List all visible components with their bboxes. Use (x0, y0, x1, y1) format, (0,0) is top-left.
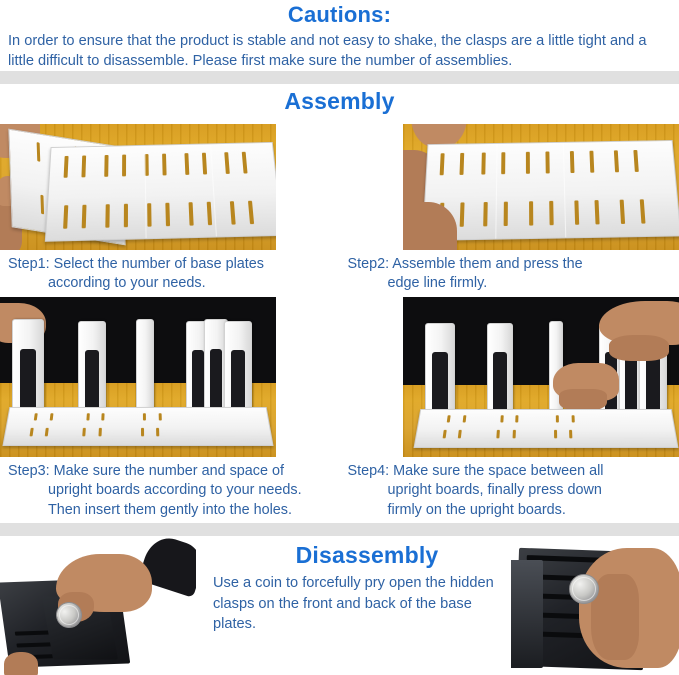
step2-caption-line1: Step2: Assemble them and press the (344, 255, 676, 274)
assembly-step-3: Step3: Make sure the number and space of… (0, 297, 340, 523)
step4-caption-line1: Step4: Make sure the space between all (344, 462, 676, 481)
step4-caption-line3: firmly on the upright boards. (344, 501, 676, 520)
cautions-section: Cautions: In order to ensure that the pr… (0, 0, 679, 71)
disassembly-section: Disassembly Use a coin to forcefully pry… (0, 536, 679, 675)
step3-caption: Step3: Make sure the number and space of… (0, 457, 340, 523)
assembly-section: Assembly (0, 84, 679, 523)
section-divider-top (0, 71, 679, 84)
assembly-step-4: Step4: Make sure the space between all u… (340, 297, 679, 523)
step3-caption-line2: upright boards according to your needs. (4, 481, 336, 500)
step4-photo (403, 297, 679, 457)
disassembly-photo-right (511, 536, 679, 675)
step1-caption-line2: according to your needs. (4, 274, 336, 293)
step4-caption: Step4: Make sure the space between all u… (340, 457, 679, 523)
disassembly-body: Use a coin to forcefully pry open the hi… (213, 569, 513, 635)
section-divider-middle (0, 523, 679, 536)
product-instruction-page: Cautions: In order to ensure that the pr… (0, 0, 679, 672)
step1-photo (0, 124, 276, 250)
step2-caption: Step2: Assemble them and press the edge … (340, 250, 679, 297)
assembly-steps-grid: Step1: Select the number of base plates … (0, 124, 679, 523)
step1-caption: Step1: Select the number of base plates … (0, 250, 340, 297)
step2-photo (403, 124, 679, 250)
assembly-heading: Assembly (0, 84, 679, 124)
step1-caption-line1: Step1: Select the number of base plates (4, 255, 336, 274)
step4-caption-line2: upright boards, finally press down (344, 481, 676, 500)
cautions-body: In order to ensure that the product is s… (0, 28, 679, 71)
step2-caption-line2: edge line firmly. (344, 274, 676, 293)
assembly-step-2: Step2: Assemble them and press the edge … (340, 124, 679, 297)
step3-caption-line3: Then insert them gently into the holes. (4, 501, 336, 520)
disassembly-text-block: Disassembly Use a coin to forcefully pry… (213, 542, 513, 635)
cautions-heading: Cautions: (0, 0, 679, 28)
step3-photo (0, 297, 276, 457)
step3-caption-line1: Step3: Make sure the number and space of (4, 462, 336, 481)
disassembly-heading: Disassembly (213, 542, 513, 569)
assembly-step-1: Step1: Select the number of base plates … (0, 124, 340, 297)
disassembly-photo-left (0, 536, 196, 675)
